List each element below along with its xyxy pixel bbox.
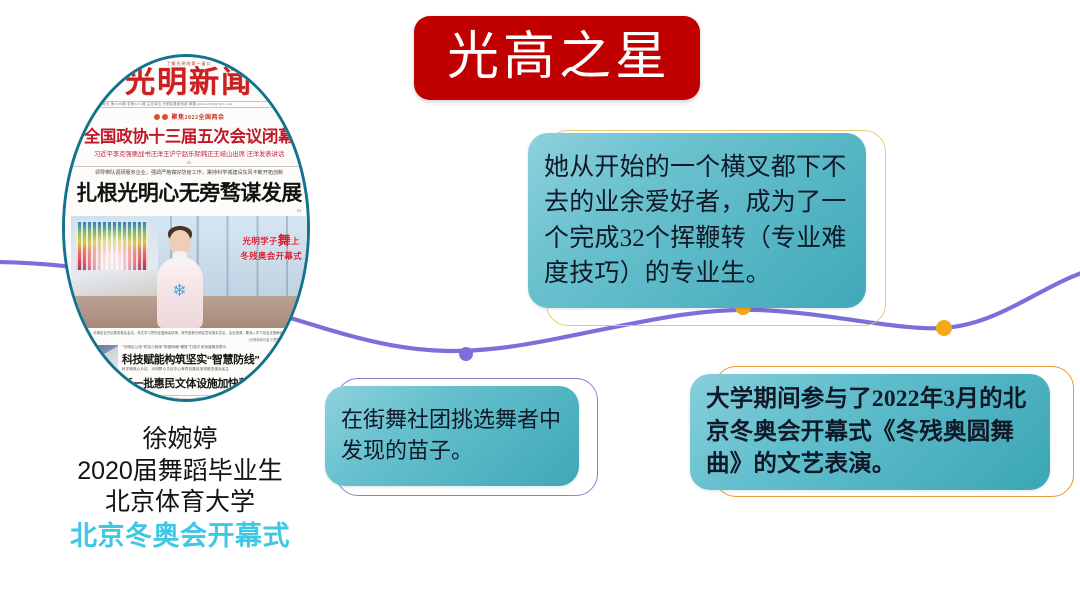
callout-text-olympics: 大学期间参与了2022年3月的北京冬奥会开幕式《冬残奥圆舞曲》的文艺表演。 (690, 383, 1050, 480)
page-title: 光高之星 (443, 32, 671, 84)
newspaper-quote-line-1: “光明区公安“防控小程序”助推网格“硬核”打造平安街道服务群众 (122, 345, 306, 350)
newspaper-oval-image: 了解光明的第一窗口 光明新闻 2022年3月11日 星期五 第3588期 总第2… (62, 54, 310, 402)
person-graduation: 2020届舞蹈毕业生 (20, 456, 340, 488)
callout-card-olympics: 大学期间参与了2022年3月的北京冬奥会开幕式《冬残奥圆舞曲》的文艺表演。 (690, 374, 1050, 490)
inset-ceremony-photo (75, 221, 149, 271)
callout-card-discovery: 在街舞社团挑选舞者中发现的苗子。 (325, 386, 579, 486)
lantern-icon-2 (162, 114, 168, 120)
person-highlight: 北京冬奥会开幕式 (20, 519, 340, 553)
slide-canvas: 光高之星 了解光明的第一窗口 光明新闻 2022年3月11日 星期五 第3588… (0, 0, 1080, 608)
newspaper-page: 了解光明的第一窗口 光明新闻 2022年3月11日 星期五 第3588期 总第2… (63, 57, 310, 402)
photo-caption-big: 舞 (278, 233, 291, 248)
newspaper-main-photo: ❄ 光明学子舞上 冬残奥会开幕式 (71, 216, 307, 328)
callout-text-discovery: 在街舞社团挑选舞者中发现的苗子。 (325, 405, 579, 467)
photo-caption-line2: 冬残奥会开幕式 (240, 251, 302, 261)
newspaper-sub-headline-1: 科技赋能构筑坚实“智慧防线” (122, 351, 306, 367)
newspaper-kicker-row: 聚焦2022全国两会 (63, 112, 310, 121)
callout-card-achievement: 她从开始的一个横叉都下不去的业余爱好者，成为了一个完成32个挥鞭转（专业难度技巧… (528, 133, 866, 308)
person-caption: 徐婉婷 2020届舞蹈毕业生 北京体育大学 北京冬奥会开幕式 (20, 424, 340, 553)
title-banner: 光高之星 (414, 16, 700, 100)
snowflake-icon: ❄ (172, 282, 186, 299)
newspaper-article-text: 本报讯 近日，光明区召开区委常委会会议，传达学习贯彻全国两会精神，研究部署光明区… (72, 331, 306, 336)
newspaper-sub-headline-2: 新一批惠民文体设施加快落地 (122, 375, 306, 391)
newspaper-headline-red: 全国政协十三届五次会议闭幕 (63, 123, 310, 147)
newspaper-page-label-02: 02 (63, 160, 310, 165)
newspaper-footer: 光明新闻社出版 广告热线:0755-88211234 印刷:深圳报业集团印务有限… (89, 395, 289, 401)
lantern-icon (154, 114, 160, 120)
newspaper-kicker: 聚焦2022全国两会 (171, 115, 224, 121)
callout-box-achievement: 她从开始的一个横叉都下不去的业余爱好者，成为了一个完成32个挥鞭转（专业难度技巧… (520, 124, 920, 324)
person-university: 北京体育大学 (20, 487, 340, 519)
callout-text-achievement: 她从开始的一个横叉都下不去的业余爱好者，成为了一个完成32个挥鞭转（专业难度技巧… (528, 150, 866, 292)
person-name: 徐婉婷 (20, 424, 340, 456)
newspaper-thumbnail-photo (72, 345, 118, 379)
newspaper-quote-line-2: 科学城核心片区、光明群众文化中心等项目建设加快推进惠及民生 (122, 367, 306, 372)
newspaper-divider (71, 166, 307, 167)
callout-box-discovery: 在街舞社团挑选舞者中发现的苗子。 (318, 378, 598, 498)
newspaper-headline-black: 扎根光明心无旁骛谋发展 (63, 177, 310, 207)
newspaper-issue-line: 2022年3月11日 星期五 第3588期 总第2231期 主办单位:光明区委宣… (73, 101, 305, 108)
newspaper-page-label-03: 03 (63, 208, 310, 213)
newspaper-lower-section: “光明区公安“防控小程序”助推网格“硬核”打造平安街道服务群众 科技赋能构筑坚实… (72, 345, 306, 391)
photo-caption-line1b: 上 (291, 236, 300, 246)
thumbnail-desk (75, 365, 115, 377)
wave-dot-orange-2 (936, 320, 952, 336)
photo-caption-line1: 光明学子 (243, 236, 278, 246)
newspaper-byline: （光明新闻记者 刘思敏 通讯员 李雪梅） (63, 337, 305, 342)
wave-dot-purple (459, 347, 473, 361)
newspaper-deck: 领导带队调研服务企业，强调严格做好防疫工作，秉持科学城建设东风不断开拓创新 (63, 169, 310, 176)
newspaper-masthead: 光明新闻 (63, 67, 310, 99)
photo-overlay-caption: 光明学子舞上 冬残奥会开幕式 (240, 232, 302, 263)
callout-box-olympics: 大学期间参与了2022年3月的北京冬奥会开幕式《冬残奥圆舞曲》的文艺表演。 (684, 366, 1080, 500)
dancer-figure: ❄ (150, 224, 210, 328)
newspaper-subhead-red: 习近平李克强栗战书汪洋王沪宁赵乐际韩正王岐山出席 汪洋发表讲话 (63, 149, 310, 158)
newspaper-lower-column: “光明区公安“防控小程序”助推网格“硬核”打造平安街道服务群众 科技赋能构筑坚实… (122, 345, 306, 391)
newspaper-masthead-block: 了解光明的第一窗口 光明新闻 (63, 57, 310, 99)
